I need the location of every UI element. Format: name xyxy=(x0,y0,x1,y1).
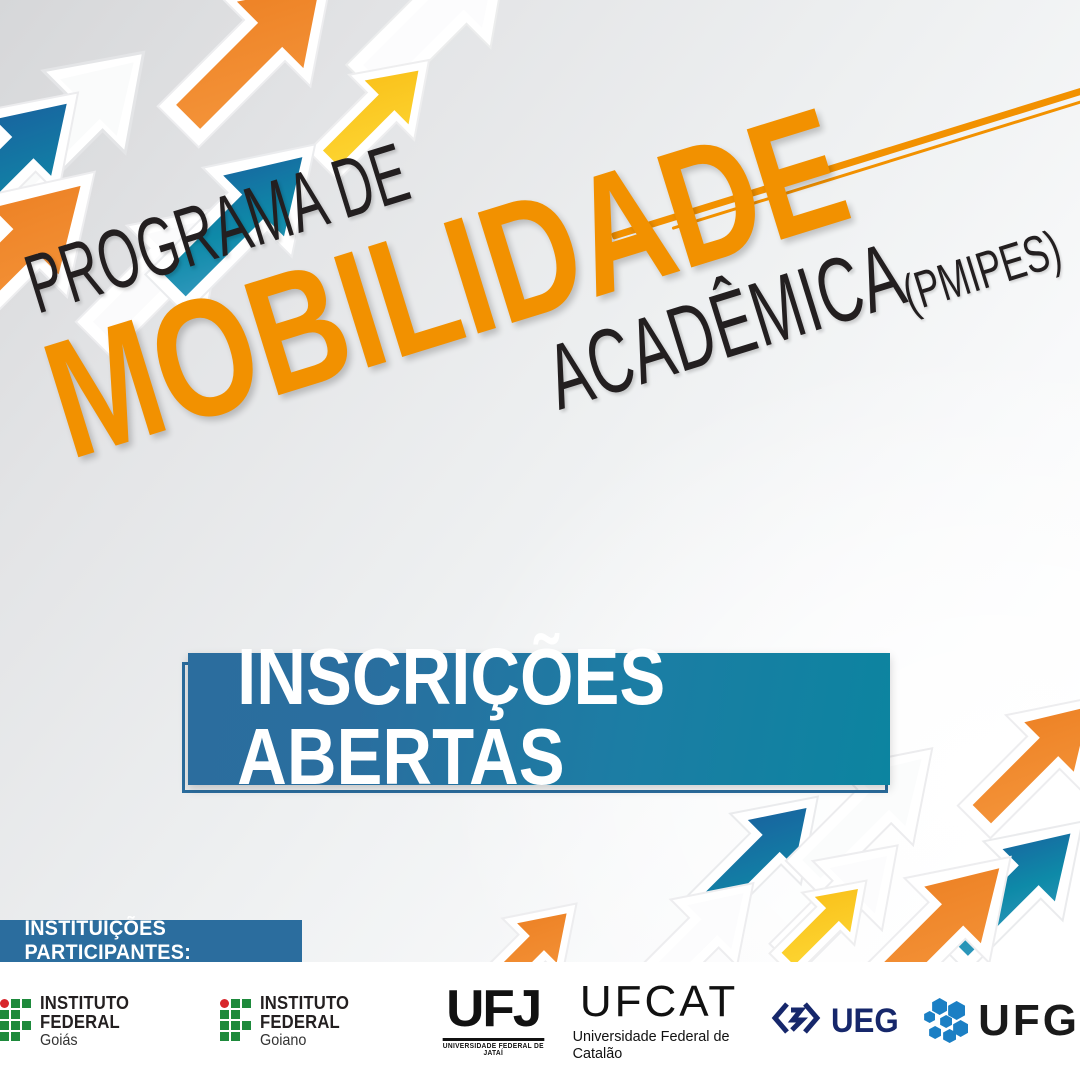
instituto-federal-goias-text: INSTITUTO FEDERAL Goiás xyxy=(40,993,198,1050)
ufg-hexagon-icon xyxy=(924,998,970,1044)
institutions-tab-label: INSTITUIÇÕES PARTICIPANTES: xyxy=(0,917,284,965)
logo-campus: Goiano xyxy=(260,1033,402,1050)
logo-name: INSTITUTO FEDERAL xyxy=(40,993,182,1032)
logo-campus: Goiás xyxy=(40,1033,182,1050)
logo-ueg: UEG xyxy=(771,996,902,1047)
logo-ufj: UFJ UNIVERSIDADE FEDERAL DE JATAÍ xyxy=(440,985,547,1056)
logo-instituto-federal-goiano: INSTITUTO FEDERAL Goiano xyxy=(220,993,418,1050)
logo-name: INSTITUTO FEDERAL xyxy=(260,993,402,1032)
ueg-emblem-icon xyxy=(771,996,821,1047)
instituto-federal-mark-icon xyxy=(0,999,31,1043)
logo-ufcat: UFCAT Universidade Federal de Catalão xyxy=(569,980,750,1062)
cta-banner[interactable]: INSCRIÇÕES ABERTAS xyxy=(188,653,890,785)
ufg-acronym: UFG xyxy=(978,996,1080,1046)
institutions-logo-row: INSTITUTO FEDERAL Goiás INSTITUTO FEDERA… xyxy=(0,962,1080,1080)
ufcat-full-name: Universidade Federal de Catalão xyxy=(572,1028,746,1062)
logo-ufg: UFG xyxy=(924,996,1080,1046)
instituto-federal-goiano-text: INSTITUTO FEDERAL Goiano xyxy=(260,993,418,1050)
ufj-full-name: UNIVERSIDADE FEDERAL DE JATAÍ xyxy=(443,1038,544,1057)
poster: PROGRAMA DE MOBILIDADE ACADÊMICA (PMIPES… xyxy=(0,0,1080,1080)
instituto-federal-mark-icon xyxy=(220,999,251,1043)
ufcat-acronym: UFCAT xyxy=(580,980,738,1024)
ueg-acronym: UEG xyxy=(831,1002,899,1041)
institutions-logo-bar: INSTITUTO FEDERAL Goiás INSTITUTO FEDERA… xyxy=(0,962,1080,1080)
logo-instituto-federal-goias: INSTITUTO FEDERAL Goiás xyxy=(0,993,198,1050)
headline-acronym: (PMIPES) xyxy=(896,219,1068,324)
cta-label: INSCRIÇÕES ABERTAS xyxy=(237,637,841,801)
institutions-tab: INSTITUIÇÕES PARTICIPANTES: xyxy=(0,920,302,962)
ufj-acronym: UFJ xyxy=(446,985,540,1034)
